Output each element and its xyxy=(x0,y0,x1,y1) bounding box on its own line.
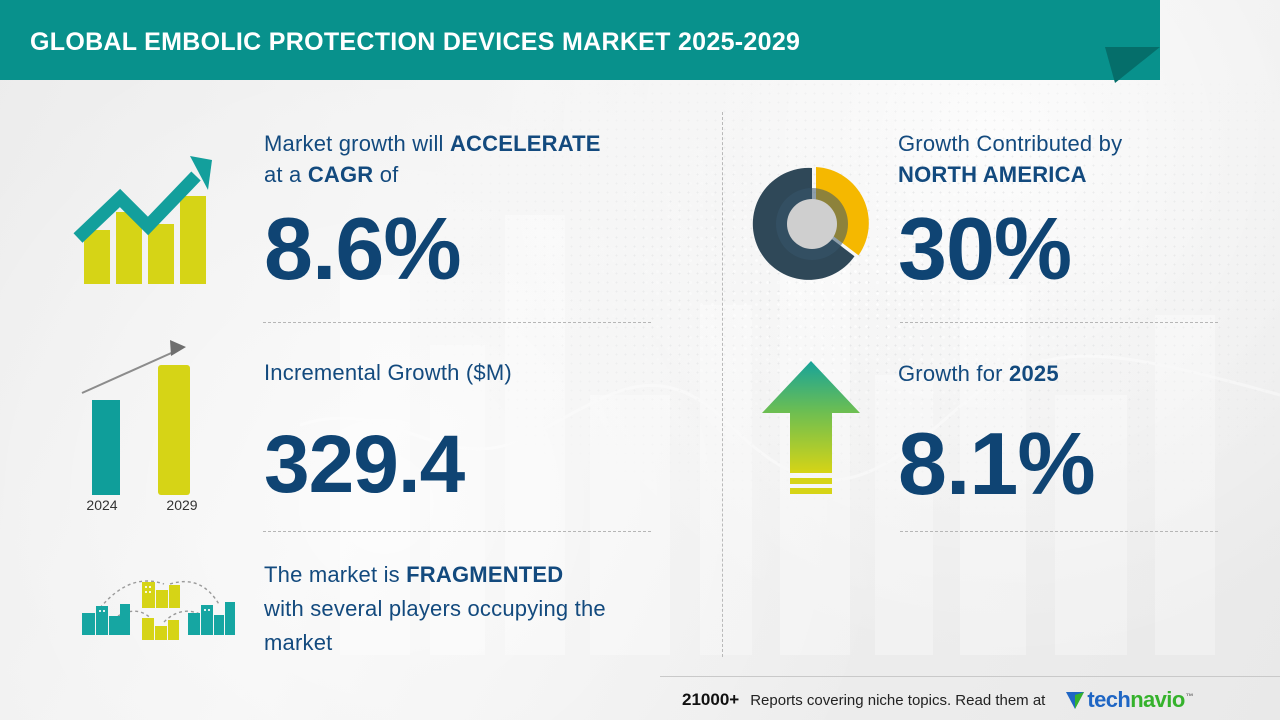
yearly-growth-prefix: Growth for xyxy=(898,361,1009,386)
technavio-mark-icon xyxy=(1065,689,1085,711)
cagr-heading: Market growth will ACCELERATE at a CAGR … xyxy=(264,128,684,190)
report-count: 21000+ xyxy=(682,690,739,710)
footer-divider xyxy=(660,676,1280,677)
fragmentation-line1-bold: FRAGMENTED xyxy=(406,562,563,587)
fragmentation-line1-prefix: The market is xyxy=(264,562,406,587)
divider-right-2 xyxy=(900,531,1218,532)
cagr-line1-bold: ACCELERATE xyxy=(450,131,601,156)
bar-label-2024: 2024 xyxy=(72,497,132,513)
divider-left-2 xyxy=(263,531,651,532)
cagr-line2-bold: CAGR xyxy=(308,162,374,187)
technavio-wordmark: technavio™ xyxy=(1087,689,1193,711)
incremental-growth-label: Incremental Growth ($M) xyxy=(264,357,664,388)
logo-text-tech: tech xyxy=(1087,687,1130,712)
yearly-growth-value: 8.1% xyxy=(898,420,1095,508)
logo-text-navio: navio xyxy=(1130,687,1184,712)
page-title: GLOBAL EMBOLIC PROTECTION DEVICES MARKET… xyxy=(30,28,800,57)
cagr-line2-prefix: at a xyxy=(264,162,308,187)
divider-vertical-center xyxy=(722,112,723,657)
bar-label-2029: 2029 xyxy=(152,497,212,513)
donut-chart-icon xyxy=(748,160,876,288)
divider-left-1 xyxy=(263,322,651,323)
fragmentation-line3: market xyxy=(264,630,332,655)
region-value: 30% xyxy=(898,205,1071,293)
cagr-line1-prefix: Market growth will xyxy=(264,131,450,156)
cagr-line2-suffix: of xyxy=(373,162,398,187)
divider-right-1 xyxy=(900,322,1218,323)
incremental-growth-value: 329.4 xyxy=(264,424,464,506)
growth-chart-icon xyxy=(72,152,222,292)
fragmentation-line2: with several players occupying the xyxy=(264,596,606,621)
region-line2-bold: NORTH AMERICA xyxy=(898,162,1087,187)
footer-tagline: Reports covering niche topics. Read them… xyxy=(750,692,1045,709)
yearly-growth-heading: Growth for 2025 xyxy=(898,358,1218,389)
technavio-logo[interactable]: technavio™ xyxy=(1065,689,1193,711)
up-arrow-icon xyxy=(756,355,866,505)
region-heading: Growth Contributed by NORTH AMERICA xyxy=(898,128,1218,190)
infographic-canvas: GLOBAL EMBOLIC PROTECTION DEVICES MARKET… xyxy=(0,0,1280,720)
fragmentation-text: The market is FRAGMENTED with several pl… xyxy=(264,558,694,660)
city-network-icon xyxy=(78,568,238,648)
bar-chart-icon xyxy=(70,330,230,510)
region-line1: Growth Contributed by xyxy=(898,131,1122,156)
logo-trademark: ™ xyxy=(1186,692,1193,701)
footer-bar: 21000+ Reports covering niche topics. Re… xyxy=(660,680,1280,720)
cagr-value: 8.6% xyxy=(264,205,461,293)
yearly-growth-year: 2025 xyxy=(1009,361,1059,386)
header-fold-corner xyxy=(1105,47,1165,87)
